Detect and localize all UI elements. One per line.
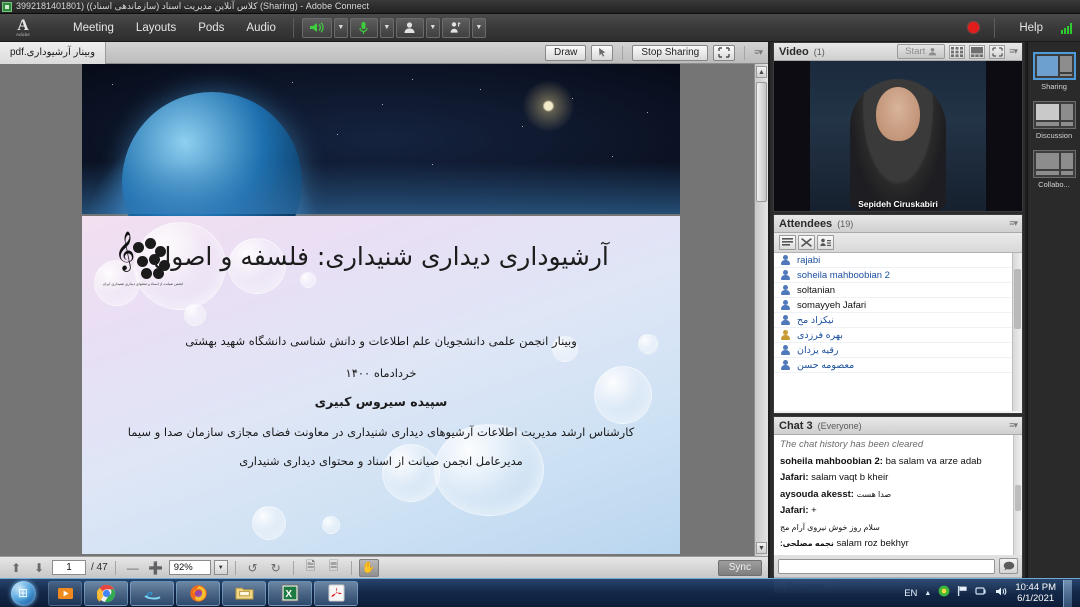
pdf-vertical-scrollbar[interactable]: ▲ ▼ xyxy=(754,64,768,556)
taskbar-file-explorer[interactable] xyxy=(222,581,266,606)
webcam-presenter-name: Sepideh Ciruskabiri xyxy=(774,199,1022,209)
view-list-icon[interactable] xyxy=(779,235,796,250)
volume-icon[interactable] xyxy=(995,584,1008,602)
scrollbar-thumb[interactable] xyxy=(756,82,767,202)
attendees-pod: Attendees (19) ≡▾ xyxy=(773,214,1023,414)
share-pod-menu-icon[interactable]: ≡▾ xyxy=(754,47,762,58)
speaker-icon[interactable] xyxy=(302,18,332,38)
chat-pod-title: Chat 3 xyxy=(779,420,813,432)
zoom-level-value[interactable]: 92% xyxy=(169,560,211,575)
start-button[interactable]: ⊞ xyxy=(0,580,46,607)
menu-layouts[interactable]: Layouts xyxy=(125,18,187,38)
flag-action-center-icon[interactable] xyxy=(957,584,968,602)
attendee-host-icon xyxy=(780,300,791,311)
list-item[interactable]: soheila mahboobian 2 xyxy=(774,268,1022,283)
list-item[interactable]: رقیه یزدان xyxy=(774,343,1022,358)
chat-input-row xyxy=(774,555,1022,577)
chat-pod-header: Chat 3 (Everyone) ≡▾ xyxy=(774,417,1022,435)
send-message-icon[interactable] xyxy=(999,558,1018,574)
svg-text:X: X xyxy=(285,589,292,600)
rotate-counterclockwise-icon[interactable]: ↺ xyxy=(243,559,263,577)
attendee-host-icon xyxy=(780,285,791,296)
video-pod-header: Video (1) Start xyxy=(774,43,1022,61)
taskbar-clock[interactable]: 10:44 PM 6/1/2021 xyxy=(1015,582,1056,604)
chat-sender: soheila mahboobian 2: xyxy=(780,456,883,467)
page-number-input[interactable]: 1 xyxy=(52,560,86,575)
page-up-icon[interactable]: ⬆ xyxy=(6,559,26,577)
scrollbar-thumb[interactable] xyxy=(1015,485,1021,511)
page-fit-icon[interactable]: 🗎 xyxy=(301,559,321,577)
page-down-icon[interactable]: ⬇ xyxy=(29,559,49,577)
toolbar-divider-2 xyxy=(235,561,236,575)
window-title-bar: 3992181401801) (کلاس آنلاین مدیریت اسناد… xyxy=(0,0,1080,14)
zoom-dropdown-arrow[interactable]: ▼ xyxy=(214,560,228,575)
share-toolbar-divider-2 xyxy=(744,46,745,60)
layout-discussion-thumbnail xyxy=(1033,101,1076,129)
attendee-participant-icon xyxy=(780,315,791,326)
attendee-name: بهره فرزدی xyxy=(797,330,843,341)
pdf-viewer: 𝄞 انجمن صیانت از اسناد و محتوای دیداری ش… xyxy=(0,64,768,556)
list-item[interactable]: rajabi xyxy=(774,253,1022,268)
hand-tool-icon[interactable]: ✋ xyxy=(359,559,379,577)
window-title: 3992181401801) (کلاس آنلاین مدیریت اسناد… xyxy=(16,1,369,12)
chat-text: صدا هست xyxy=(857,490,892,499)
toolbar-divider-3 xyxy=(293,561,294,575)
menubar-divider-right xyxy=(994,18,995,38)
attendee-name: rajabi xyxy=(797,255,820,266)
share-toolbar-divider xyxy=(622,46,623,60)
slide-title: آرشیوداری دیداری شنیداری: فلسفه و اصول xyxy=(82,242,680,271)
system-tray: EN ▲ 10:44 PM 6/1/2021 xyxy=(904,580,1080,607)
zoom-in-icon[interactable]: ➕ xyxy=(146,559,166,577)
slide-line-5: مدیرعامل انجمن صیانت از اسناد و محتوای د… xyxy=(82,454,680,468)
list-item[interactable]: بهره فرزدی xyxy=(774,328,1022,343)
help-menu[interactable]: Help xyxy=(1010,18,1052,38)
webcam-start-icon xyxy=(928,47,937,56)
chat-text: + xyxy=(811,505,817,516)
attendees-pod-title: Attendees xyxy=(779,218,832,230)
chat-text: سلام روز خوش نیروی آرام مج xyxy=(780,523,880,532)
layout-sharing-thumbnail xyxy=(1033,52,1076,80)
layout-discussion[interactable]: Discussion xyxy=(1031,101,1078,140)
attendee-presenter-icon xyxy=(780,330,791,341)
list-item[interactable]: soltanian xyxy=(774,283,1022,298)
pods-column: Video (1) Start xyxy=(770,42,1025,578)
pointer-hand-icon[interactable] xyxy=(591,45,613,61)
windows-taskbar: ⊞ e xyxy=(0,578,1080,607)
video-pod-menu-icon[interactable]: ≡▾ xyxy=(1009,46,1017,57)
network-icon[interactable] xyxy=(975,584,988,602)
chat-message: نجمه مصلحی: salam roz bekhyr xyxy=(780,537,1016,551)
start-webcam-label: Start xyxy=(905,46,925,57)
chat-text: salam khosh amadin xyxy=(875,555,962,556)
rotate-clockwise-icon[interactable]: ↻ xyxy=(266,559,286,577)
chat-pod-menu-icon[interactable]: ≡▾ xyxy=(1009,420,1017,431)
taskbar-firefox[interactable] xyxy=(176,581,220,606)
chat-sender: Jafari: xyxy=(780,505,809,516)
show-hidden-icons[interactable]: ▲ xyxy=(924,590,931,597)
grid-layout-icon[interactable] xyxy=(949,45,965,59)
menu-pods[interactable]: Pods xyxy=(187,18,235,38)
video-pod: Video (1) Start xyxy=(773,42,1023,212)
attendee-name: soheila mahboobian 2 xyxy=(797,270,890,281)
stop-sharing-button[interactable]: Stop Sharing xyxy=(632,45,708,61)
taskbar-internet-explorer[interactable]: e xyxy=(130,581,174,606)
attendees-pod-menu-icon[interactable]: ≡▾ xyxy=(1009,218,1017,229)
layout-collaboration[interactable]: Collabo... xyxy=(1031,150,1078,189)
pdf-bottom-toolbar: ⬆ ⬇ 1 / 47 — ➕ 92% ▼ ↺ ↻ 🗎 🗏 ✋ Sync xyxy=(0,556,768,578)
scroll-down-arrow-icon[interactable]: ▼ xyxy=(756,542,767,554)
toolbar-divider-4 xyxy=(351,561,352,575)
webcam-person-face xyxy=(876,87,920,141)
chat-message-list[interactable]: The chat history has been cleared soheil… xyxy=(774,435,1022,555)
windows-start-orb-icon: ⊞ xyxy=(11,581,36,606)
slide-line-4: کارشناس ارشد مدیریت اطلاعات آرشیوهای دید… xyxy=(82,425,680,439)
chat-message: سلام روز خوش نیروی آرام مج xyxy=(780,521,1016,535)
banner-glow xyxy=(82,162,680,214)
slide-line-3: سپیده سیروس کبیری xyxy=(82,394,680,409)
attendee-name: معصومه حسن xyxy=(797,360,854,371)
breakout-rooms-icon[interactable] xyxy=(798,235,815,250)
attendees-list[interactable]: rajabi soheila mahboobian 2 soltanian so… xyxy=(774,253,1022,411)
filmstrip-layout-icon[interactable] xyxy=(969,45,985,59)
clock-date: 6/1/2021 xyxy=(1015,593,1056,604)
chat-sender: aysouda akesst: xyxy=(780,489,854,500)
taskbar-adobe-reader[interactable] xyxy=(314,581,358,606)
draw-button[interactable]: Draw xyxy=(545,45,586,61)
page-total-label: / 47 xyxy=(91,562,108,573)
webcam-icon[interactable] xyxy=(396,18,424,38)
microphone-dropdown-arrow[interactable]: ▼ xyxy=(380,18,394,38)
slide-page-1: 𝄞 انجمن صیانت از اسناد و محتوای دیداری ش… xyxy=(82,216,680,554)
attendee-options-icon[interactable] xyxy=(817,235,834,250)
taskbar-excel[interactable]: X xyxy=(268,581,312,606)
sync-button[interactable]: Sync xyxy=(718,560,762,576)
toolbar-divider-1 xyxy=(115,561,116,575)
chat-message: soheila mahboobian 2: ba salam va arze a… xyxy=(780,455,1016,469)
list-item[interactable]: معصومه حسن xyxy=(774,358,1022,373)
slide-line-2: خردادماه ۱۴۰۰ xyxy=(82,366,680,380)
video-pod-count: (1) xyxy=(814,47,825,57)
zoom-out-icon[interactable]: — xyxy=(123,559,143,577)
clock-time: 10:44 PM xyxy=(1015,582,1056,593)
attendee-name: soltanian xyxy=(797,285,835,296)
attendee-name: نیکزاد مح xyxy=(797,315,834,326)
menu-meeting[interactable]: Meeting xyxy=(62,18,125,38)
menu-audio[interactable]: Audio xyxy=(235,18,286,38)
chat-system-message: The chat history has been cleared xyxy=(780,438,1016,452)
svg-text:e: e xyxy=(146,587,153,602)
raise-hand-dropdown-arrow[interactable]: ▼ xyxy=(472,18,486,38)
layout-collaboration-thumbnail xyxy=(1033,150,1076,178)
presentation-banner-image xyxy=(82,64,680,214)
attendees-pod-header: Attendees (19) ≡▾ xyxy=(774,215,1022,233)
association-logo-caption: انجمن صیانت از اسناد و محتوای دیداری شنی… xyxy=(103,282,183,287)
webcam-video-frame xyxy=(810,61,986,211)
attendee-participant-icon xyxy=(780,255,791,266)
list-item[interactable]: نیکزاد مح xyxy=(774,313,1022,328)
taskbar-media-player[interactable] xyxy=(48,581,82,606)
webcam-feed[interactable]: Sepideh Ciruskabiri xyxy=(774,61,1022,211)
chat-text: salam roz bekhyr xyxy=(836,538,908,549)
attendee-participant-icon xyxy=(780,360,791,371)
attendee-name: رقیه یزدان xyxy=(797,345,838,356)
attendees-toolbar xyxy=(774,233,1022,253)
raise-hand-icon[interactable] xyxy=(442,18,470,38)
chat-sender: Jafari: xyxy=(780,472,809,483)
chat-text: ba salam va arze adab xyxy=(886,456,982,467)
fullscreen-icon[interactable] xyxy=(713,45,735,61)
microphone-icon[interactable] xyxy=(350,18,378,38)
scrollbar-thumb[interactable] xyxy=(1014,269,1021,329)
record-indicator-icon[interactable] xyxy=(968,22,979,33)
layout-discussion-label: Discussion xyxy=(1036,131,1072,140)
speaker-dropdown-arrow[interactable]: ▼ xyxy=(334,18,348,38)
chat-scrollbar[interactable] xyxy=(1013,435,1022,555)
chat-scope-label: (Everyone) xyxy=(818,421,862,431)
slide-line-1: وبینار انجمن علمی دانشجویان علم اطلاعات … xyxy=(82,334,680,348)
chat-text: salam vaqt b kheir xyxy=(811,472,888,483)
chat-input[interactable] xyxy=(778,559,995,574)
antivirus-shield-icon[interactable] xyxy=(938,584,950,602)
list-item[interactable]: somayyeh Jafari xyxy=(774,298,1022,313)
application-menubar: A Adobe Meeting Layouts Pods Audio ▼ ▼ xyxy=(0,14,1080,42)
taskbar-chrome[interactable] xyxy=(84,581,128,606)
chat-sender: Sepideh Ciruskabiri: xyxy=(780,555,872,556)
share-pod-toolbar: وبینار آرشیوداری.pdf Draw Stop Sharing ≡… xyxy=(0,42,768,64)
attendee-participant-icon xyxy=(780,270,791,281)
adobe-logo-icon: A Adobe xyxy=(6,15,40,41)
webcam-dropdown-arrow[interactable]: ▼ xyxy=(426,18,440,38)
chat-message: Jafari: + xyxy=(780,504,1016,518)
shared-document-tab[interactable]: وبینار آرشیوداری.pdf xyxy=(0,42,106,64)
layout-sharing-label: Sharing xyxy=(1041,82,1067,91)
video-fullscreen-icon[interactable] xyxy=(989,45,1005,59)
adobe-connect-window: 3992181401801) (کلاس آنلاین مدیریت اسناد… xyxy=(0,0,1080,607)
attendee-participant-icon xyxy=(780,345,791,356)
scroll-up-arrow-icon[interactable]: ▲ xyxy=(756,66,767,78)
chat-message: Sepideh Ciruskabiri: salam khosh amadin xyxy=(780,554,1016,556)
chat-sender: نجمه مصلحی: xyxy=(780,539,834,548)
layout-sharing[interactable]: Sharing xyxy=(1031,52,1078,91)
connection-bars-icon[interactable] xyxy=(1061,22,1072,34)
attendees-count: (19) xyxy=(837,219,853,229)
show-desktop-button[interactable] xyxy=(1063,580,1072,607)
page-width-icon[interactable]: 🗏 xyxy=(324,559,344,577)
chat-pod: Chat 3 (Everyone) ≡▾ The chat history ha… xyxy=(773,416,1023,576)
chat-message: aysouda akesst: صدا هست xyxy=(780,488,1016,502)
video-pod-title: Video xyxy=(779,46,809,58)
menubar-divider xyxy=(293,18,294,38)
share-pod: وبینار آرشیوداری.pdf Draw Stop Sharing ≡… xyxy=(0,42,768,578)
chat-message: Jafari: salam vaqt b kheir xyxy=(780,471,1016,485)
language-indicator[interactable]: EN xyxy=(904,588,917,599)
layout-rail: Sharing Discussion Collabo... xyxy=(1027,42,1080,578)
window-app-icon xyxy=(2,2,12,12)
attendees-scrollbar[interactable] xyxy=(1012,253,1022,411)
start-webcam-button[interactable]: Start xyxy=(897,44,945,59)
layout-collaboration-label: Collabo... xyxy=(1038,180,1070,189)
attendee-name: somayyeh Jafari xyxy=(797,300,866,311)
